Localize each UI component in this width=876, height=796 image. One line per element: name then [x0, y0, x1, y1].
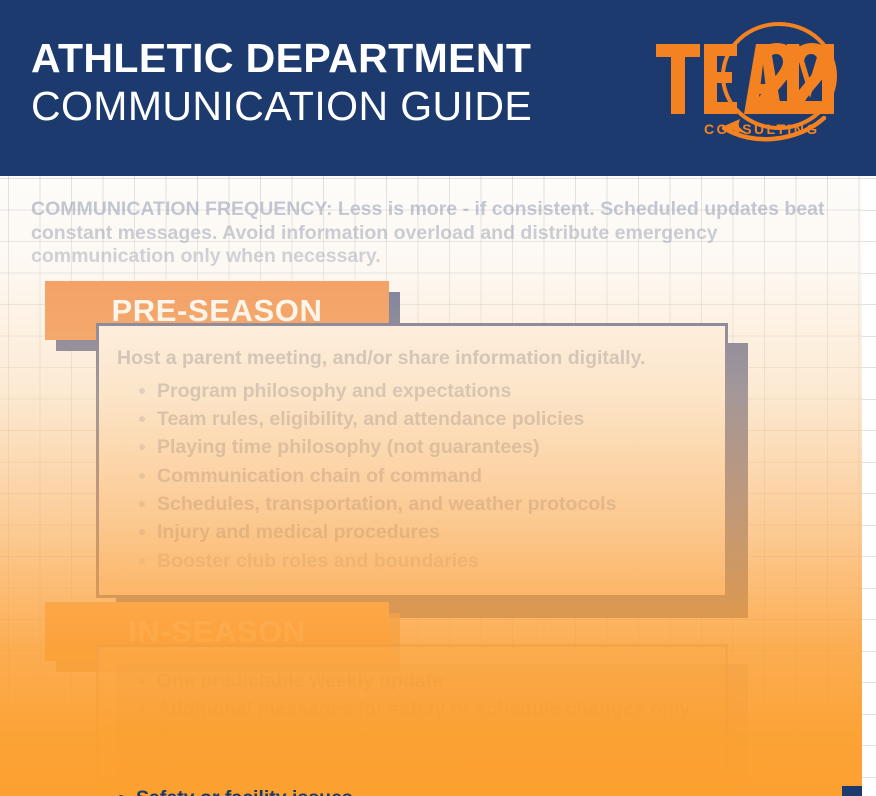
clipped-list-item-label: Safety or facility issues — [136, 787, 353, 796]
bullet-icon — [139, 473, 145, 479]
list-item-label: Booster club roles and boundaries — [157, 550, 479, 572]
list-item: Schedules, transportation, and weather p… — [117, 490, 703, 518]
logo-svg: CONSULTING — [648, 18, 860, 158]
list-item: Injury and medical procedures — [117, 518, 703, 546]
grid-tick — [862, 367, 876, 368]
grid-tick — [862, 462, 876, 463]
grid-tick — [862, 745, 876, 746]
list-item: Weather cancellations or delays — [117, 752, 703, 780]
team22-consulting-logo: CONSULTING — [648, 18, 860, 158]
grid-tick — [862, 651, 876, 652]
grid-tick — [862, 525, 876, 526]
grid-tick — [862, 619, 876, 620]
grid-tick — [862, 210, 876, 211]
list-item-label: Communication chain of command — [157, 465, 482, 487]
list-item: Schedule changes or travel updates — [117, 724, 703, 752]
grid-tick — [862, 178, 876, 179]
list-item: Team rules, eligibility, and attendance … — [117, 405, 703, 433]
list-item: Program philosophy and expectations — [117, 377, 703, 405]
page-header: ATHLETIC DEPARTMENT COMMUNICATION GUIDE — [0, 0, 876, 176]
title-line-1: ATHLETIC DEPARTMENT — [31, 34, 651, 82]
list-item-label: Schedules, transportation, and weather p… — [157, 493, 616, 515]
list-item-label: Schedule changes or travel updates — [157, 727, 491, 749]
grid-tick — [862, 556, 876, 557]
page-root: COMMUNICATION FREQUENCY: Less is more - … — [0, 0, 876, 796]
bullet-icon — [139, 706, 145, 712]
card-body: One predictable weekly update Additional… — [96, 644, 728, 796]
grid-tick — [862, 493, 876, 494]
bullet-icon — [139, 678, 145, 684]
title-line-2: COMMUNICATION GUIDE — [31, 82, 651, 130]
card-body: Host a parent meeting, and/or share info… — [96, 323, 728, 598]
list-item-label: Team rules, eligibility, and attendance … — [157, 408, 584, 430]
bullet-icon — [139, 763, 145, 769]
bullet-icon — [139, 735, 145, 741]
list-item: Playing time philosophy (not guarantees) — [117, 433, 703, 461]
badge-label: PRE-SEASON — [112, 295, 323, 326]
grid-tick — [862, 588, 876, 589]
grid-tick — [862, 304, 876, 305]
list-item-label: Injury and medical procedures — [157, 521, 440, 543]
grid-tick — [862, 430, 876, 431]
list-item: Additional messages for safety or schedu… — [117, 695, 703, 723]
page-title: ATHLETIC DEPARTMENT COMMUNICATION GUIDE — [31, 34, 651, 131]
list-item-label: Program philosophy and expectations — [157, 380, 511, 402]
bullet-icon — [139, 558, 145, 564]
list-item-label: Playing time philosophy (not guarantees) — [157, 436, 539, 458]
clipped-decoration — [842, 786, 864, 796]
communication-frequency-paragraph: COMMUNICATION FREQUENCY: Less is more - … — [31, 198, 863, 269]
grid-tick — [862, 714, 876, 715]
document-body: COMMUNICATION FREQUENCY: Less is more - … — [0, 176, 862, 796]
bullet-icon — [139, 444, 145, 450]
bullet-icon — [139, 416, 145, 422]
grid-tick — [862, 399, 876, 400]
in-season-card: One predictable weekly update Additional… — [96, 644, 728, 796]
list-item: Booster club roles and boundaries — [117, 547, 703, 575]
right-margin-gutter — [862, 176, 876, 796]
pre-season-list: Program philosophy and expectations Team… — [117, 377, 703, 575]
bullet-icon — [139, 388, 145, 394]
list-item: One predictable weekly update — [117, 667, 703, 695]
grid-tick — [862, 273, 876, 274]
grid-tick — [862, 682, 876, 683]
card-lead: Host a parent meeting, and/or share info… — [117, 346, 703, 371]
bullet-icon — [139, 529, 145, 535]
list-item-label: Additional messages for safety or schedu… — [157, 698, 690, 720]
list-item: Communication chain of command — [117, 462, 703, 490]
in-season-list: One predictable weekly update Additional… — [117, 667, 703, 780]
clipped-list-item: Safety or facility issues — [96, 784, 796, 796]
grid-tick — [862, 336, 876, 337]
list-item-label: Weather cancellations or delays — [157, 755, 454, 777]
badge-label: IN-SEASON — [128, 616, 306, 647]
list-item-label: One predictable weekly update — [157, 670, 443, 692]
pre-season-card: Host a parent meeting, and/or share info… — [96, 323, 728, 598]
grid-tick — [862, 241, 876, 242]
logo-tagline: CONSULTING — [704, 121, 820, 137]
grid-tick — [862, 777, 876, 778]
bullet-icon — [139, 501, 145, 507]
